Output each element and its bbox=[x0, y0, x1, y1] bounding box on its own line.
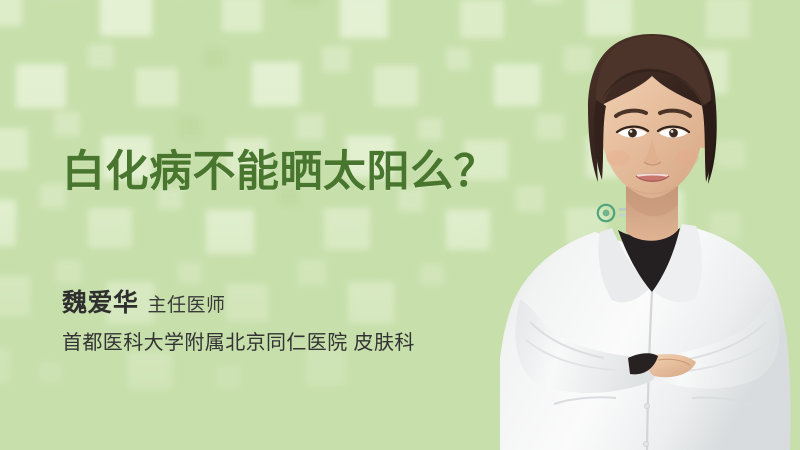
doctor-affiliation: 首都医科大学附属北京同仁医院 皮肤科 bbox=[62, 326, 415, 355]
text-content-block: 白化病不能晒太阳么？ 魏爱华 主任医师 首都医科大学附属北京同仁医院 皮肤科 bbox=[62, 0, 532, 450]
page-title: 白化病不能晒太阳么？ bbox=[62, 148, 497, 196]
doctor-name: 魏爱华 bbox=[62, 283, 139, 319]
doctor-qa-banner: 白化病不能晒太阳么？ 魏爱华 主任医师 首都医科大学附属北京同仁医院 皮肤科 bbox=[0, 0, 800, 450]
doctor-byline: 魏爱华 主任医师 bbox=[62, 283, 226, 319]
doctor-professional-title: 主任医师 bbox=[148, 290, 226, 317]
